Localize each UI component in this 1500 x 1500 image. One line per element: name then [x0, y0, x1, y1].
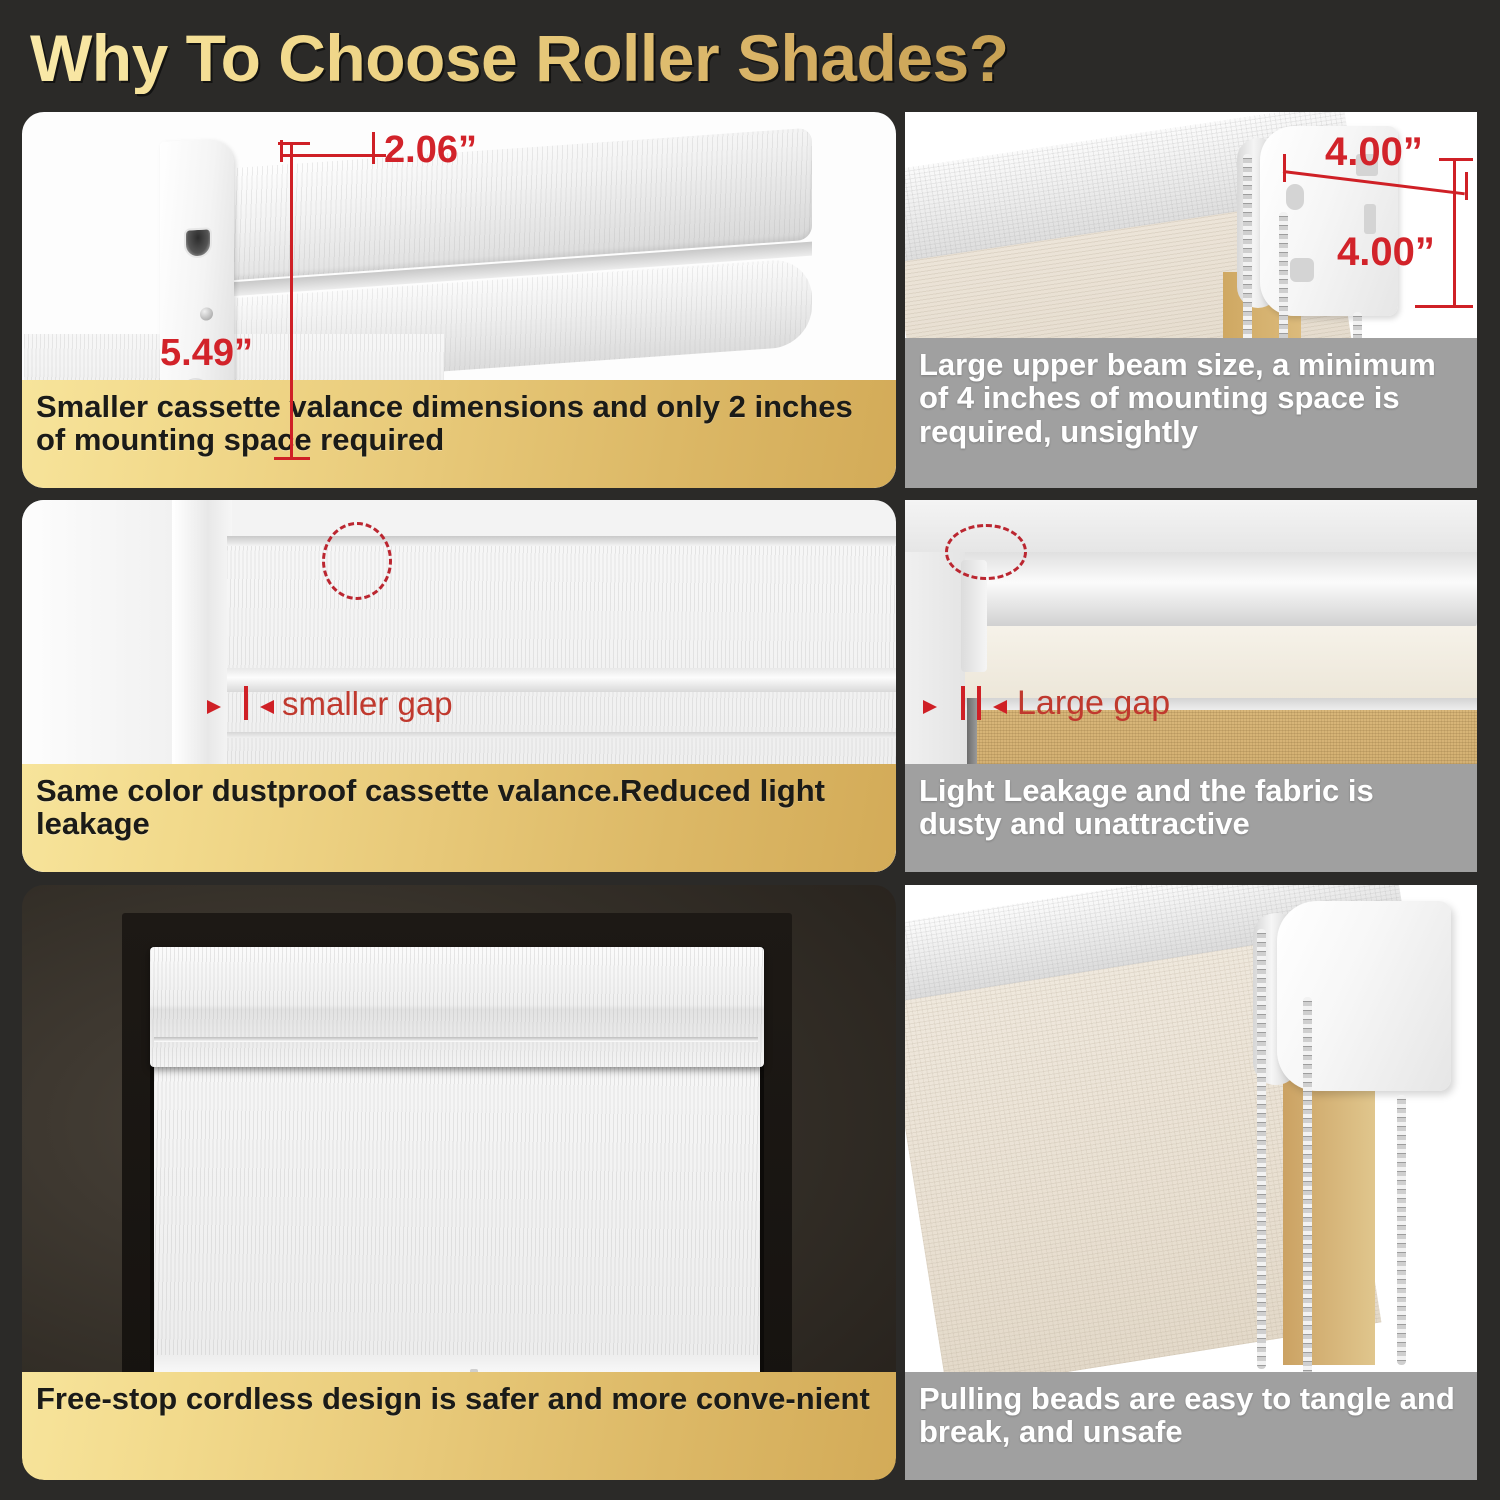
panel-smaller-cassette: 2.06” 5.49” Smaller cassette valance dim… [22, 112, 896, 488]
panel-free-stop-cordless: Free-stop cordless design is safer and m… [22, 885, 896, 1480]
panel-caption: Free-stop cordless design is safer and m… [22, 1372, 896, 1480]
bead-chain [1303, 997, 1312, 1377]
gap-arrow-left [207, 700, 221, 714]
gap-highlight-circle [945, 524, 1027, 580]
width-dimension-tick-right [372, 132, 375, 164]
beam-width-dimension-label: 4.00” [1325, 130, 1423, 175]
bead-chain [1257, 929, 1266, 1369]
panel-light-leakage: Large gap Light Leakage and the fabric i… [905, 500, 1477, 872]
gap-arrow-left [923, 700, 937, 714]
panel-pulling-beads: Pulling beads are easy to tangle and bre… [905, 885, 1477, 1480]
panel-dustproof-valance: smaller gap Same color dustproof cassett… [22, 500, 896, 872]
height-dimension-line [290, 142, 293, 460]
panel-caption: Smaller cassette valance dimensions and … [22, 380, 896, 488]
beam-height-tick-top [1439, 158, 1473, 161]
beam-height-dimension-label: 4.00” [1337, 230, 1435, 275]
beam-width-tick-right [1465, 172, 1468, 200]
gap-label: Large gap [1017, 684, 1170, 723]
panel-caption: Same color dustproof cassette valance.Re… [22, 764, 896, 872]
beam-width-tick-left [1283, 154, 1286, 182]
panel-large-upper-beam: 4.00” 4.00” Large upper beam size, a min… [905, 112, 1477, 488]
comparison-grid: 2.06” 5.49” Smaller cassette valance dim… [0, 0, 1500, 1500]
gap-label: smaller gap [282, 685, 453, 723]
gap-marker-right [977, 686, 981, 720]
gap-marker-left [961, 686, 965, 720]
gap-marker [244, 686, 248, 720]
width-dimension-label: 2.06” [384, 129, 477, 172]
gap-highlight-circle [322, 522, 392, 600]
beam-height-tick-bottom [1415, 305, 1473, 308]
panel-caption: Light Leakage and the fabric is dusty an… [905, 764, 1477, 872]
panel-caption: Pulling beads are easy to tangle and bre… [905, 1372, 1477, 1480]
height-dimension-tick-top [278, 142, 310, 145]
bead-chain [1397, 1095, 1406, 1365]
height-dimension-label: 5.49” [160, 332, 253, 375]
height-dimension-tick-bottom [274, 457, 310, 460]
gap-arrow-right [993, 700, 1007, 714]
gap-arrow-right [260, 700, 274, 714]
width-dimension-line [280, 154, 386, 157]
panel-caption: Large upper beam size, a minimum of 4 in… [905, 338, 1477, 488]
beam-height-dimension-line [1453, 158, 1456, 308]
